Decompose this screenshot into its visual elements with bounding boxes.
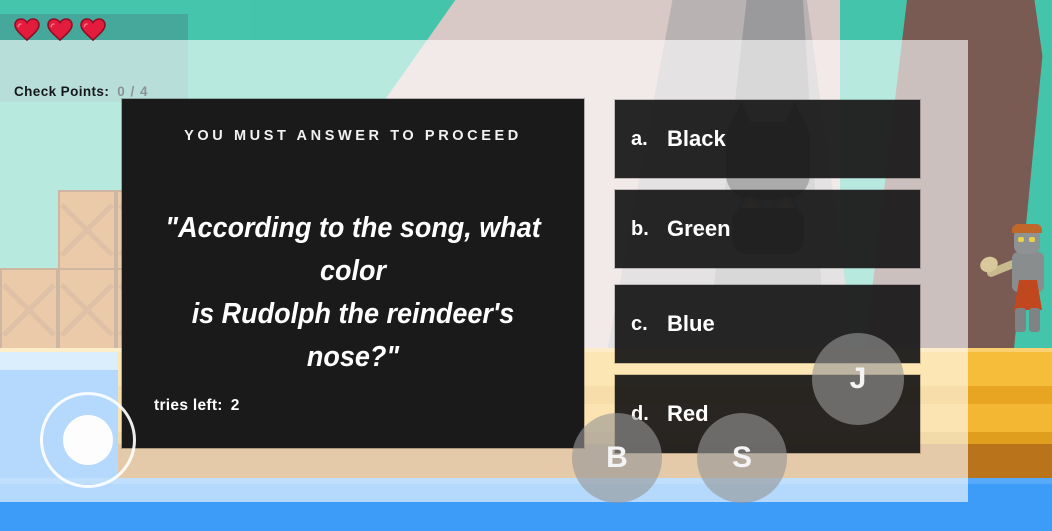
- crate-block: [58, 190, 116, 270]
- action-button-b[interactable]: B: [572, 413, 662, 503]
- npc-orc-sprite: [1000, 224, 1052, 334]
- tries-left: tries left:2: [154, 397, 240, 415]
- tries-left-value: 2: [231, 397, 240, 414]
- heart-icon: [47, 18, 73, 42]
- orc-eye-left-icon: [1018, 237, 1024, 242]
- answer-label-d: Red: [667, 401, 709, 427]
- question-line-1: "According to the song, what color: [159, 207, 548, 293]
- orc-leg-left: [1015, 308, 1026, 332]
- water: [0, 478, 1052, 531]
- action-button-j[interactable]: J: [812, 333, 904, 425]
- question-line-2: is Rudolph the reindeer's nose?": [159, 293, 548, 379]
- orc-leg-right: [1029, 308, 1040, 332]
- question-panel: YOU MUST ANSWER TO PROCEED "According to…: [122, 99, 584, 448]
- answer-key-c: c.: [615, 313, 667, 336]
- answer-label-b: Green: [667, 216, 731, 242]
- water-left-foam: [0, 352, 118, 370]
- question-header: YOU MUST ANSWER TO PROCEED: [122, 128, 584, 144]
- checkpoints-value: 0 / 4: [117, 84, 148, 99]
- answer-option-b[interactable]: b. Green: [615, 190, 920, 268]
- answer-option-a[interactable]: a. Black: [615, 100, 920, 178]
- checkpoints-indicator: Check Points:0 / 4: [14, 84, 149, 99]
- orc-hair: [1012, 224, 1042, 233]
- hud: Check Points:0 / 4: [0, 0, 300, 110]
- answer-key-a: a.: [615, 128, 667, 151]
- orc-eye-right-icon: [1029, 237, 1035, 242]
- game-screen: Check Points:0 / 4 YOU MUST ANSWER TO PR…: [0, 0, 1052, 531]
- water-highlight: [0, 478, 1052, 484]
- heart-icon: [80, 18, 106, 42]
- joystick-knob[interactable]: [63, 415, 113, 465]
- answer-key-b: b.: [615, 218, 667, 241]
- action-button-s[interactable]: S: [697, 413, 787, 503]
- question-text: "According to the song, what color is Ru…: [159, 207, 548, 379]
- answer-label-c: Blue: [667, 311, 715, 337]
- crate-block: [58, 268, 116, 352]
- tries-left-label: tries left:: [154, 397, 223, 414]
- virtual-joystick[interactable]: [40, 392, 136, 488]
- crate-block: [0, 268, 58, 352]
- answer-label-a: Black: [667, 126, 726, 152]
- checkpoints-label: Check Points:: [14, 84, 109, 99]
- lives-indicator: [14, 18, 106, 42]
- heart-icon: [14, 18, 40, 42]
